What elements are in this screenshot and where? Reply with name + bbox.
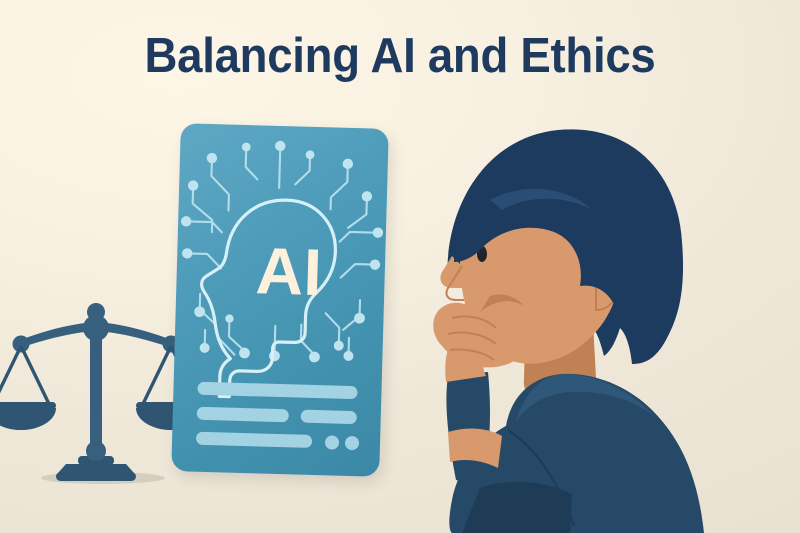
scale-top-knob bbox=[87, 303, 105, 321]
balance-scale-svg bbox=[8, 288, 188, 488]
scale-post-knob-lower bbox=[86, 441, 106, 461]
balance-scale-icon bbox=[8, 288, 188, 488]
thinking-woman bbox=[330, 96, 800, 533]
ai-label: AI bbox=[255, 233, 323, 309]
woman-svg bbox=[330, 96, 800, 533]
text-bar-4 bbox=[196, 432, 312, 448]
page-title: Balancing AI and Ethics bbox=[28, 28, 772, 84]
scale-post bbox=[90, 330, 102, 460]
illustration-canvas: Balancing AI and Ethics bbox=[0, 0, 800, 533]
text-bar-2 bbox=[197, 407, 289, 423]
scale-pan-left bbox=[0, 346, 56, 430]
scale-beam-end-left bbox=[13, 336, 30, 353]
